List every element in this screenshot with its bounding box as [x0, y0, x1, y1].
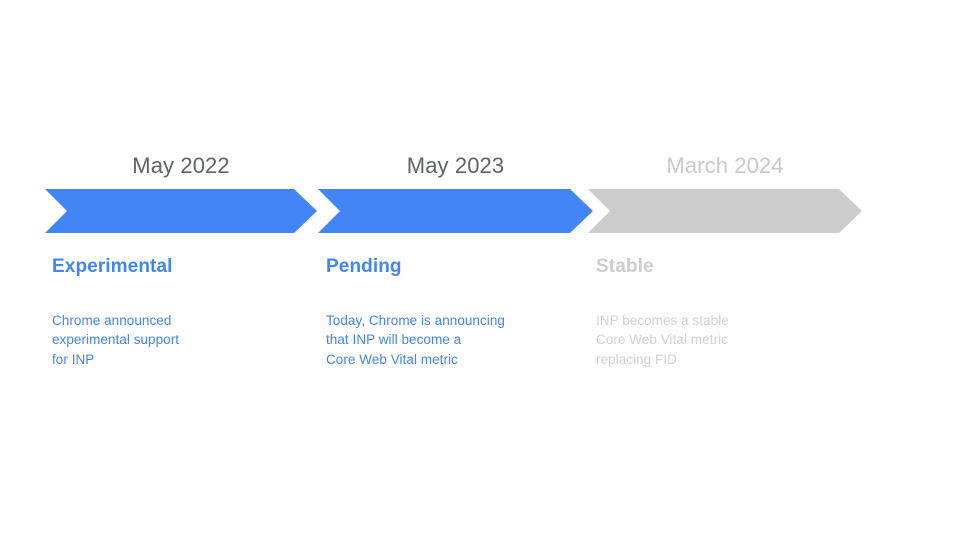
- chevron-arrow-icon: [588, 189, 862, 233]
- stage-status-heading-3: Stable: [596, 255, 654, 279]
- stage-date-label-2: May 2023: [318, 152, 593, 180]
- chevron-arrow-icon: [45, 189, 317, 233]
- timeline-arrow-2: [318, 189, 593, 233]
- timeline-stage-stable: March 2024 Stable INP becomes a stable C…: [588, 0, 862, 540]
- timeline-arrow-3: [588, 189, 862, 233]
- stage-status-heading-1: Experimental: [52, 255, 173, 279]
- timeline-stage-experimental: May 2022 Experimental Chrome announced e…: [45, 0, 317, 540]
- timeline-stage-pending: May 2023 Pending Today, Chrome is announ…: [318, 0, 593, 540]
- inp-timeline-diagram: May 2022 Experimental Chrome announced e…: [0, 0, 960, 540]
- stage-date-label-3: March 2024: [588, 152, 862, 180]
- stage-status-heading-2: Pending: [326, 255, 402, 279]
- stage-description-1: Chrome announced experimental support fo…: [52, 311, 302, 369]
- chevron-arrow-icon: [318, 189, 593, 233]
- stage-description-3: INP becomes a stable Core Web Vital metr…: [596, 311, 846, 369]
- stage-description-2: Today, Chrome is announcing that INP wil…: [326, 311, 586, 369]
- stage-date-label-1: May 2022: [45, 152, 317, 180]
- timeline-arrow-1: [45, 189, 317, 233]
